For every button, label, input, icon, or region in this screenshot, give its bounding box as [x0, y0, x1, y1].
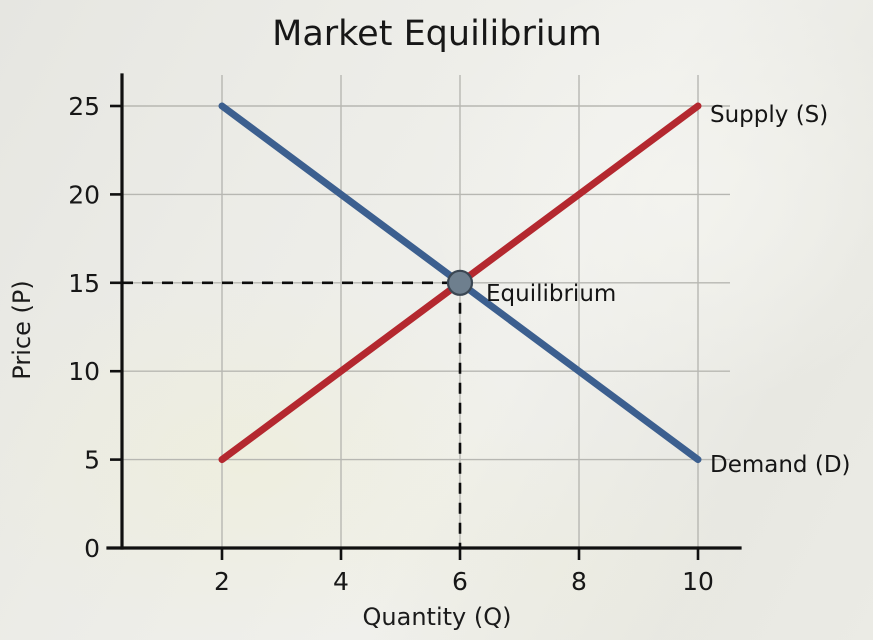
demand-series-label: Demand (D)	[710, 452, 851, 478]
page-title: Market Equilibrium	[272, 14, 602, 54]
ytick-label-20: 20	[68, 180, 100, 209]
y-axis-title: Price (P)	[8, 280, 36, 379]
market-equilibrium-chart: Market Equilibrium	[0, 0, 873, 640]
xtick-label-2: 2	[214, 567, 230, 596]
ytick-label-5: 5	[84, 446, 100, 475]
equilibrium-point-marker	[448, 271, 472, 295]
ytick-label-15: 15	[68, 269, 100, 298]
ytick-label-25: 25	[68, 92, 100, 121]
ytick-label-10: 10	[68, 357, 100, 386]
y-tick-labels: 0 5 10 15 20 25	[68, 92, 100, 563]
xtick-label-4: 4	[333, 567, 349, 596]
x-tick-labels: 2 4 6 8 10	[214, 567, 714, 596]
ytick-label-0: 0	[84, 534, 100, 563]
xtick-label-10: 10	[682, 567, 714, 596]
x-axis-title: Quantity (Q)	[363, 603, 512, 631]
chart-canvas: Market Equilibrium	[0, 0, 873, 640]
y-tick-marks	[110, 106, 122, 548]
xtick-label-8: 8	[571, 567, 587, 596]
equilibrium-annotation-label: Equilibrium	[486, 281, 616, 307]
x-tick-marks	[222, 548, 698, 560]
xtick-label-6: 6	[452, 567, 468, 596]
supply-series-label: Supply (S)	[710, 102, 828, 128]
